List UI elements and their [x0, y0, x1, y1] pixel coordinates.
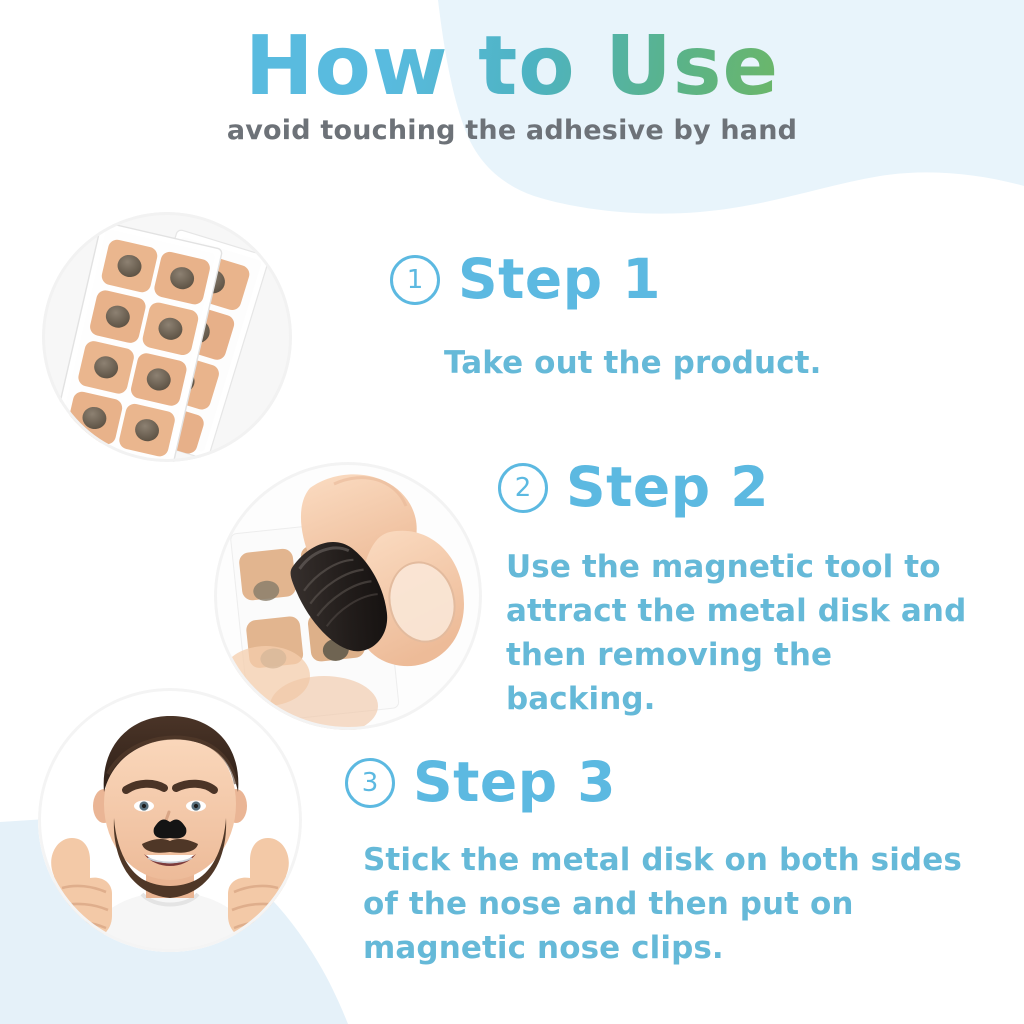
- page-subtitle: avoid touching the adhesive by hand: [0, 115, 1024, 146]
- infographic-canvas: How to Use avoid touching the adhesive b…: [0, 0, 1024, 1024]
- step-3-block: 3 Step 3 Stick the metal disk on both si…: [345, 755, 983, 970]
- step-1-photo: [42, 212, 292, 462]
- step-1-heading: 1 Step 1: [390, 252, 821, 307]
- step-3-title: Step 3: [413, 755, 616, 810]
- step-2-title: Step 2: [566, 460, 769, 515]
- step-2-photo: [214, 462, 482, 730]
- header: How to Use avoid touching the adhesive b…: [0, 24, 1024, 146]
- step-1-body: Take out the product.: [444, 341, 821, 385]
- step-1-title: Step 1: [458, 252, 661, 307]
- page-title: How to Use: [0, 24, 1024, 109]
- step-2-heading: 2 Step 2: [498, 460, 976, 515]
- step-2-number-icon: 2: [498, 463, 548, 513]
- step-3-number-icon: 3: [345, 758, 395, 808]
- product-sheets-illustration: [42, 212, 292, 462]
- step-2-body: Use the magnetic tool to attract the met…: [506, 545, 976, 721]
- man-with-nose-clip-illustration: [38, 688, 302, 952]
- step-1-block: 1 Step 1 Take out the product.: [390, 252, 821, 385]
- step-3-heading: 3 Step 3: [345, 755, 983, 810]
- magnetic-tool-in-hand-illustration: [214, 462, 482, 730]
- step-1-number-icon: 1: [390, 255, 440, 305]
- step-2-block: 2 Step 2 Use the magnetic tool to attrac…: [498, 460, 976, 721]
- step-3-body: Stick the metal disk on both sides of th…: [363, 838, 983, 970]
- step-3-photo: [38, 688, 302, 952]
